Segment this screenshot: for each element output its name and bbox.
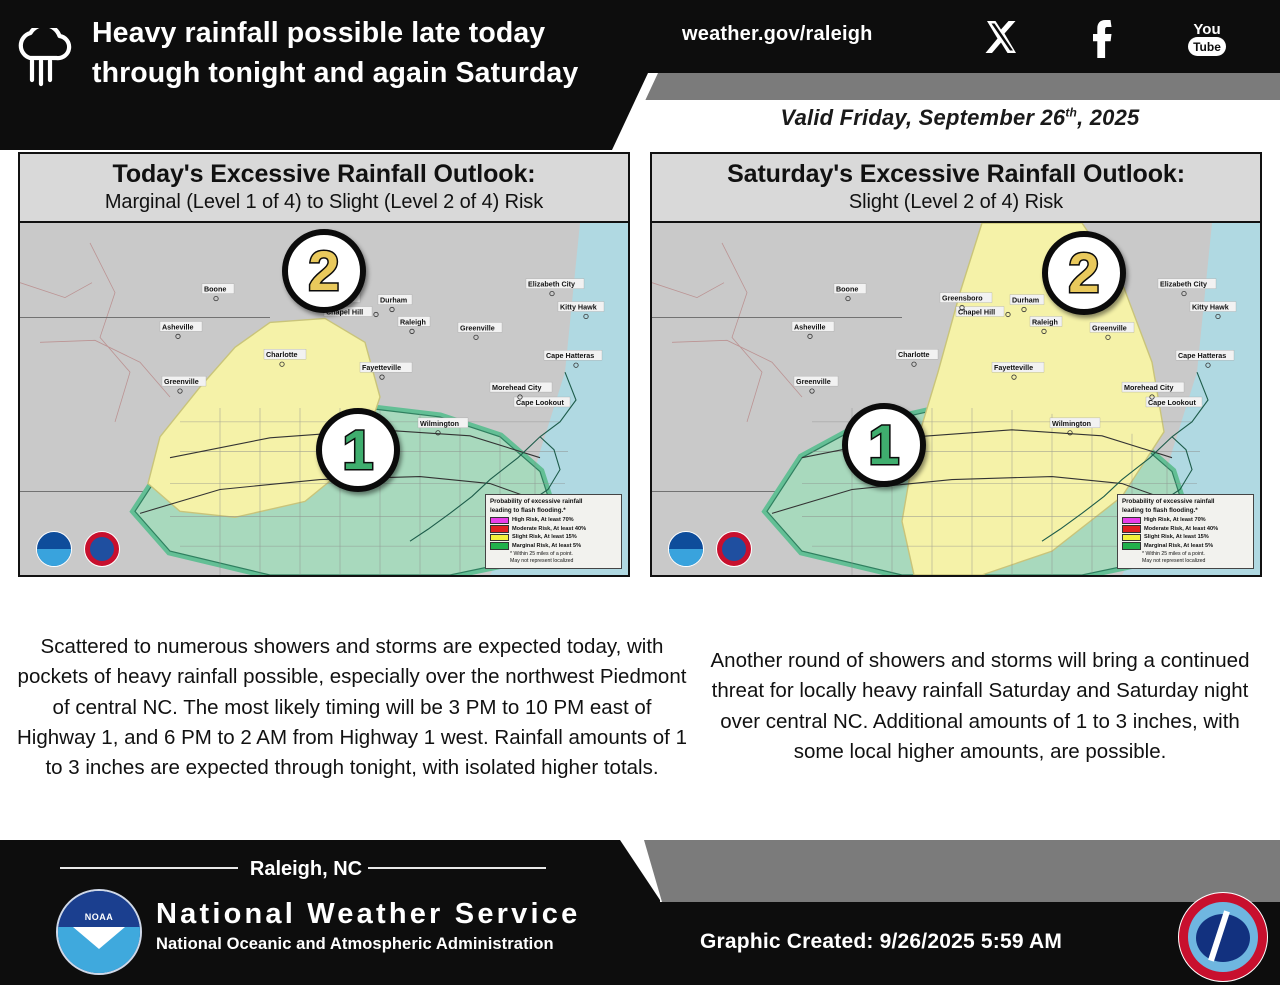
risk-badge-marginal-saturday: 1 [842, 403, 926, 487]
legend-swatch-moderate [490, 525, 509, 533]
svg-text:Elizabeth City: Elizabeth City [528, 281, 575, 289]
agency-subtitle: National Oceanic and Atmospheric Adminis… [156, 935, 554, 954]
legend-row-high: High Risk, At least 70% [1122, 517, 1249, 525]
headline-text: Heavy rainfall possible late today throu… [92, 13, 637, 94]
valid-date-year: , 2025 [1077, 105, 1139, 130]
caption-saturday: Another round of showers and storms will… [706, 646, 1254, 767]
svg-text:Cape Hatteras: Cape Hatteras [546, 352, 594, 360]
nws-seal-inner [1188, 902, 1258, 972]
legend-note-line2: May not represent localized [490, 558, 617, 565]
legend-swatch-slight [1122, 534, 1141, 542]
nws-logo-icon [84, 531, 120, 567]
legend-label-slight: Slight Risk, At least 15% [1144, 534, 1209, 540]
legend-row-slight: Slight Risk, At least 15% [490, 534, 617, 542]
legend-label-high: High Risk, At least 70% [512, 517, 574, 523]
legend-title-line1: Probability of excessive rainfall [1122, 498, 1249, 506]
noaa-seal-icon: NOAA [56, 889, 142, 975]
legend-label-marginal: Marginal Risk, At least 5% [1144, 543, 1213, 549]
noaa-seal-bird [73, 927, 125, 949]
legend-swatch-marginal [490, 542, 509, 550]
rain-cloud-icon [12, 28, 80, 90]
valid-date-ordinal: th [1065, 106, 1077, 120]
noaa-seal-sky [58, 891, 140, 929]
svg-text:Cape Lookout: Cape Lookout [1148, 399, 1196, 407]
legend-swatch-marginal [1122, 542, 1141, 550]
map-saturday-agency-logos [668, 531, 752, 567]
website-url[interactable]: weather.gov/raleigh [682, 23, 873, 46]
risk-badge-slight-today: 2 [282, 229, 366, 313]
panel-saturday-header: Saturday's Excessive Rainfall Outlook: S… [650, 152, 1262, 223]
legend-row-moderate: Moderate Risk, At least 40% [490, 525, 617, 533]
risk-badge-slight-saturday: 2 [1042, 231, 1126, 315]
svg-text:Boone: Boone [204, 286, 226, 294]
legend-row-slight: Slight Risk, At least 15% [1122, 534, 1249, 542]
legend-label-moderate: Moderate Risk, At least 40% [1144, 526, 1218, 532]
legend-row-marginal: Marginal Risk, At least 5% [1122, 542, 1249, 550]
panel-today-header: Today's Excessive Rainfall Outlook: Marg… [18, 152, 630, 223]
svg-text:Raleigh: Raleigh [400, 318, 426, 326]
svg-text:Kitty Hawk: Kitty Hawk [1192, 304, 1229, 312]
x-twitter-icon[interactable] [978, 14, 1024, 60]
svg-text:Kitty Hawk: Kitty Hawk [560, 304, 597, 312]
page-header: Heavy rainfall possible late today throu… [0, 0, 1280, 150]
legend-today: Probability of excessive rainfall leadin… [485, 494, 622, 569]
panel-saturday-subtitle: Slight (Level 2 of 4) Risk [656, 190, 1256, 214]
svg-text:Raleigh: Raleigh [1032, 318, 1058, 326]
svg-text:Greensboro: Greensboro [942, 295, 983, 303]
svg-text:Asheville: Asheville [162, 323, 194, 331]
facebook-icon[interactable] [1082, 14, 1128, 60]
page-footer: Raleigh, NC NOAA National Weather Servic… [0, 840, 1280, 985]
header-gray-accent [636, 73, 1280, 103]
svg-text:Greenville: Greenville [164, 378, 199, 386]
legend-label-slight: Slight Risk, At least 15% [512, 534, 577, 540]
svg-text:Wilmington: Wilmington [1052, 420, 1091, 428]
svg-text:Fayetteville: Fayetteville [994, 364, 1033, 372]
legend-title-line2: leading to flash flooding.* [1122, 507, 1249, 515]
legend-row-high: High Risk, At least 70% [490, 517, 617, 525]
legend-label-marginal: Marginal Risk, At least 5% [512, 543, 581, 549]
risk-badge-marginal-today-label: 1 [342, 422, 373, 478]
risk-badge-marginal-today: 1 [316, 408, 400, 492]
legend-saturday: Probability of excessive rainfall leadin… [1117, 494, 1254, 569]
legend-label-high: High Risk, At least 70% [1144, 517, 1206, 523]
map-saturday[interactable]: BooneAsheville GreenvilleCharlotte Green… [650, 223, 1262, 577]
svg-text:Tube: Tube [1193, 40, 1221, 54]
svg-text:Fayetteville: Fayetteville [362, 364, 401, 372]
svg-text:Elizabeth City: Elizabeth City [1160, 281, 1207, 289]
panel-saturday-title: Saturday's Excessive Rainfall Outlook: [656, 160, 1256, 188]
noaa-logo-icon [668, 531, 704, 567]
legend-label-moderate: Moderate Risk, At least 40% [512, 526, 586, 532]
legend-swatch-high [490, 517, 509, 525]
svg-text:You: You [1193, 21, 1220, 38]
svg-text:Morehead City: Morehead City [1124, 384, 1173, 392]
svg-text:Asheville: Asheville [794, 323, 826, 331]
svg-text:Boone: Boone [836, 286, 858, 294]
caption-today: Scattered to numerous showers and storms… [16, 632, 688, 784]
map-today-agency-logos [36, 531, 120, 567]
legend-note-line1: * Within 25 miles of a point. [1122, 551, 1249, 558]
svg-text:Greenville: Greenville [460, 324, 495, 332]
legend-row-moderate: Moderate Risk, At least 40% [1122, 525, 1249, 533]
risk-badge-slight-today-label: 2 [308, 243, 339, 299]
legend-swatch-high [1122, 517, 1141, 525]
footer-gray-accent [600, 840, 1280, 902]
graphic-created-timestamp: Graphic Created: 9/26/2025 5:59 AM [700, 930, 1062, 954]
svg-text:Chapel Hill: Chapel Hill [958, 308, 995, 316]
svg-text:Cape Hatteras: Cape Hatteras [1178, 352, 1226, 360]
svg-text:Charlotte: Charlotte [266, 351, 298, 359]
legend-title-line1: Probability of excessive rainfall [490, 498, 617, 506]
panel-today: Today's Excessive Rainfall Outlook: Marg… [18, 152, 630, 577]
svg-text:Durham: Durham [380, 297, 407, 305]
legend-row-marginal: Marginal Risk, At least 5% [490, 542, 617, 550]
legend-note-line2: May not represent localized [1122, 558, 1249, 565]
svg-text:Greenville: Greenville [1092, 324, 1127, 332]
panel-today-subtitle: Marginal (Level 1 of 4) to Slight (Level… [24, 190, 624, 214]
svg-text:Morehead City: Morehead City [492, 384, 541, 392]
panel-today-title: Today's Excessive Rainfall Outlook: [24, 160, 624, 188]
footer-office-name: Raleigh, NC [0, 858, 612, 881]
nws-seal-icon [1178, 892, 1268, 982]
risk-badge-slight-saturday-label: 2 [1068, 245, 1099, 301]
noaa-logo-icon [36, 531, 72, 567]
youtube-icon[interactable]: You Tube [1176, 16, 1238, 62]
legend-title-line2: leading to flash flooding.* [490, 507, 617, 515]
panel-saturday: Saturday's Excessive Rainfall Outlook: S… [650, 152, 1262, 577]
map-today[interactable]: BooneAsheville GreenvilleCharlotte Green… [18, 223, 630, 577]
svg-text:Wilmington: Wilmington [420, 420, 459, 428]
svg-text:Cape Lookout: Cape Lookout [516, 399, 564, 407]
svg-text:Charlotte: Charlotte [898, 351, 930, 359]
valid-date-line: Valid Friday, September 26th, 2025 [640, 105, 1280, 131]
valid-date-main: Valid Friday, September 26 [781, 105, 1066, 130]
legend-note-line1: * Within 25 miles of a point. [490, 551, 617, 558]
legend-swatch-slight [490, 534, 509, 542]
nws-logo-icon [716, 531, 752, 567]
risk-badge-marginal-saturday-label: 1 [868, 417, 899, 473]
noaa-seal-wordmark: NOAA [58, 912, 140, 922]
svg-text:Greenville: Greenville [796, 378, 831, 386]
agency-name: National Weather Service [156, 898, 580, 931]
legend-swatch-moderate [1122, 525, 1141, 533]
svg-text:Durham: Durham [1012, 297, 1039, 305]
